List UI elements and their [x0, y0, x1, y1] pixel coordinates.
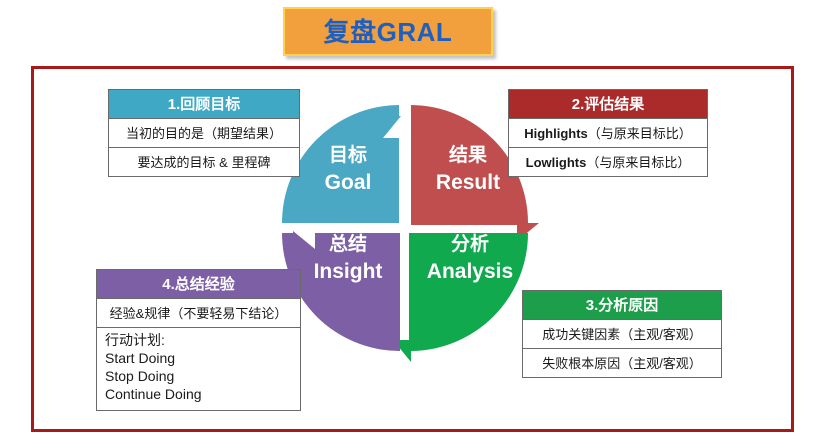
box-3-header: 3.分析原因	[523, 291, 721, 320]
box-1-header: 1.回顾目标	[109, 90, 299, 119]
info-box-summarize-experience[interactable]: 4.总结经验 经验&规律（不要轻易下结论） 行动计划: Start Doing …	[96, 269, 301, 411]
box-2-row-2: Lowlights（与原来目标比）	[509, 148, 707, 176]
box-4-row-1: 经验&规律（不要轻易下结论）	[97, 299, 300, 328]
box-2-row-1: Highlights（与原来目标比）	[509, 119, 707, 148]
box-2-row-1-rest: （与原来目标比）	[588, 126, 692, 141]
box-2-header: 2.评估结果	[509, 90, 707, 119]
box-1-row-1: 当初的目的是（期望结果）	[109, 119, 299, 148]
box-4-action-plan: 行动计划: Start Doing Stop Doing Continue Do…	[97, 328, 300, 410]
box-1-row-2: 要达成的目标 & 里程碑	[109, 148, 299, 176]
action-plan-item-stop: Stop Doing	[105, 368, 292, 386]
action-plan-heading: 行动计划:	[105, 332, 292, 350]
box-3-row-2: 失败根本原因（主观/客观）	[523, 349, 721, 377]
page-title-banner: 复盘GRAL	[283, 7, 493, 56]
info-box-analyze-cause[interactable]: 3.分析原因 成功关键因素（主观/客观） 失败根本原因（主观/客观）	[522, 290, 722, 378]
action-plan-item-continue: Continue Doing	[105, 386, 292, 404]
box-2-row-2-bold: Lowlights	[526, 155, 587, 170]
info-box-evaluate-result[interactable]: 2.评估结果 Highlights（与原来目标比） Lowlights（与原来目…	[508, 89, 708, 177]
box-2-row-2-rest: （与原来目标比）	[586, 155, 690, 170]
box-2-row-1-bold: Highlights	[524, 126, 588, 141]
page-title: 复盘GRAL	[324, 19, 453, 45]
quadrant-analysis-shape[interactable]	[393, 233, 528, 362]
action-plan-item-start: Start Doing	[105, 350, 292, 368]
box-4-header: 4.总结经验	[97, 270, 300, 299]
info-box-review-goal[interactable]: 1.回顾目标 当初的目的是（期望结果） 要达成的目标 & 里程碑	[108, 89, 300, 177]
box-3-row-1: 成功关键因素（主观/客观）	[523, 320, 721, 349]
